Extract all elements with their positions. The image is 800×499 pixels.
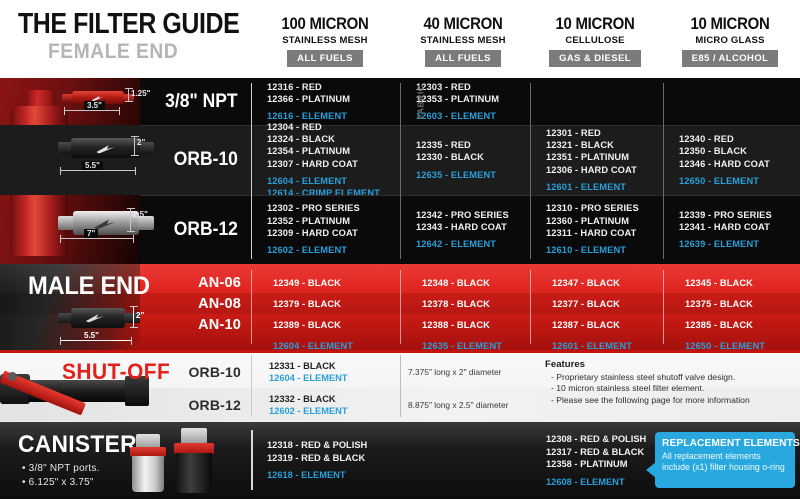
part-number: 12340 - RED xyxy=(679,133,800,145)
part-number: 12389 - BLACK xyxy=(273,320,341,330)
part-number: 12353 - PLATINUM xyxy=(416,93,530,105)
column-header-fuel-badge: ALL FUELS xyxy=(425,50,501,67)
part-number: 12331 - BLACK xyxy=(269,360,400,372)
callout-line-2: include (x1) filter housing o-ring xyxy=(662,462,788,473)
cell-c100-element: 12604 - ELEMENT xyxy=(251,335,400,350)
canister-bullet: • 3/8" NPT ports. xyxy=(22,463,100,474)
part-number: 12339 - PRO SERIES xyxy=(679,209,800,221)
length-dimension-label: 5.5" xyxy=(82,161,103,170)
row-label-orb-12: ORB-12 xyxy=(140,388,251,421)
canister-title: CANISTER xyxy=(18,431,137,459)
part-number: 12306 - HARD COAT xyxy=(546,164,663,176)
male-end-title: MALE END xyxy=(28,272,150,301)
column-divider-1 xyxy=(400,355,401,417)
part-number: 12302 - PRO SERIES xyxy=(267,202,400,214)
cell-c10c xyxy=(530,78,663,125)
cell-c10c: 12387 - BLACK xyxy=(530,314,663,335)
column-divider-1 xyxy=(400,83,401,259)
part-number: 12310 - PRO SERIES xyxy=(546,202,663,214)
diameter-dimension xyxy=(134,136,135,156)
diameter-dimension xyxy=(130,208,131,232)
cell-c40: 12378 - BLACK xyxy=(400,293,530,314)
length-dimension-label: 3.5" xyxy=(84,101,105,110)
column-divider-2 xyxy=(530,270,531,344)
part-number: 12335 - RED xyxy=(416,139,530,151)
fabric-tag: FABRIC xyxy=(415,84,425,119)
filter-product-image xyxy=(58,135,168,165)
cell-part: 12332 - BLACK12602 - ELEMENT xyxy=(251,388,400,421)
row-label-text: AN-10 xyxy=(198,317,241,333)
diameter-dimension xyxy=(128,88,129,102)
part-number: 12375 - BLACK xyxy=(685,299,753,309)
shut-off-title: SHUT-OFF xyxy=(62,359,170,385)
part-number: 12304 - RED xyxy=(267,121,400,133)
cell-c10g: 12339 - PRO SERIES12341 - HARD COAT12639… xyxy=(663,195,800,264)
female-end-table: 3/8" NPT12316 - RED12366 - PLATINUM12616… xyxy=(0,78,800,264)
cell-c100: 12389 - BLACK xyxy=(251,314,400,335)
diameter-dimension-label: 2" xyxy=(137,138,145,147)
part-number: 12618 - ELEMENT xyxy=(267,469,400,482)
part-number: 12351 - PLATINUM xyxy=(546,151,663,163)
cell-c10g xyxy=(663,78,800,125)
cell-c10c: 12347 - BLACK xyxy=(530,272,663,293)
column-header-fuel-badge: GAS & DIESEL xyxy=(549,50,641,67)
section-subtitle-female-end: FEMALE END xyxy=(48,40,178,64)
features-heading: Features xyxy=(545,359,750,370)
male-end-diameter-label: 2" xyxy=(136,311,144,320)
replacement-elements-callout: REPLACEMENT ELEMENTS All replacement ele… xyxy=(655,432,795,488)
cell-c40: 12388 - BLACK xyxy=(400,314,530,335)
part-number-element: 12604 - ELEMENT xyxy=(273,341,353,351)
callout-line-1: All replacement elements xyxy=(662,451,788,462)
part-number: 12347 - BLACK xyxy=(552,278,620,288)
cell-c10g-element: 12650 - ELEMENT xyxy=(663,335,800,350)
length-dimension xyxy=(60,238,134,239)
column-divider-1 xyxy=(400,270,401,344)
canister-image-black xyxy=(172,428,216,494)
column-divider-2 xyxy=(530,83,531,259)
part-number: 12377 - BLACK xyxy=(552,299,620,309)
cell-c10c-element: 12601 - ELEMENT xyxy=(530,335,663,350)
row-label-text: ORB-12 xyxy=(188,397,241,413)
canister-image-polish xyxy=(128,434,168,494)
part-number: 12602 - ELEMENT xyxy=(267,244,400,256)
column-divider-3 xyxy=(663,270,664,344)
cell-c10g: 12345 - BLACK xyxy=(663,272,800,293)
column-divider-3 xyxy=(663,83,664,259)
column-header-4: 10 MICRONMICRO GLASSE85 / ALCOHOL xyxy=(645,14,800,67)
part-number: 12324 - BLACK xyxy=(267,133,400,145)
feature-item: - Proprietary stainless steel shutoff va… xyxy=(545,372,750,383)
column-header-fuel-badge: ALL FUELS xyxy=(287,50,363,67)
part-number: 12603 - ELEMENT xyxy=(416,110,530,122)
row-label-text: ORB-12 xyxy=(174,219,238,241)
row-label-text: AN-08 xyxy=(198,296,241,312)
row-label-an-10: AN-10 xyxy=(140,314,251,335)
row-label-an-08: AN-08 xyxy=(140,293,251,314)
cell-c10c: 12308 - RED & POLISH12317 - RED & BLACK1… xyxy=(530,422,663,499)
male-end-length-dimension xyxy=(60,340,132,341)
part-number-element: 12602 - ELEMENT xyxy=(269,405,400,417)
cell-c40: 12342 - PRO SERIES12343 - HARD COAT12642… xyxy=(400,195,530,264)
dimensions-text: 7.375" long x 2" diameter xyxy=(408,367,501,377)
male-end-diameter-dimension xyxy=(133,306,134,328)
part-number: 12385 - BLACK xyxy=(685,320,753,330)
cell-c100: 12304 - RED12324 - BLACK12354 - PLATINUM… xyxy=(251,125,400,195)
part-number: 12319 - RED & BLACK xyxy=(267,452,400,465)
cell-c100: 12379 - BLACK xyxy=(251,293,400,314)
part-number: 12610 - ELEMENT xyxy=(546,244,663,256)
part-number: 12321 - BLACK xyxy=(546,139,663,151)
part-number: 12639 - ELEMENT xyxy=(679,238,800,250)
part-number: 12346 - HARD COAT xyxy=(679,158,800,170)
part-number: 12635 - ELEMENT xyxy=(416,169,530,181)
cell-c40: 12335 - RED12330 - BLACK12635 - ELEMENT xyxy=(400,125,530,195)
length-dimension-label: 7" xyxy=(84,229,98,238)
cell-c10g: 12385 - BLACK xyxy=(663,314,800,335)
part-number: 12350 - BLACK xyxy=(679,145,800,157)
part-number-element: 12650 - ELEMENT xyxy=(685,341,765,351)
part-number: 12387 - BLACK xyxy=(552,320,620,330)
filter-product-image xyxy=(62,88,172,111)
cell-c100: 12302 - PRO SERIES12352 - PLATINUM12309 … xyxy=(251,195,400,264)
diameter-dimension-label: 2.5" xyxy=(133,210,148,219)
cell-c100: 12316 - RED12366 - PLATINUM12616 - ELEME… xyxy=(251,78,400,125)
cell-part: 12331 - BLACK12604 - ELEMENT xyxy=(251,355,400,388)
part-number: 12642 - ELEMENT xyxy=(416,238,530,250)
length-dimension xyxy=(60,170,136,171)
feature-item: - Please see the following page for more… xyxy=(545,395,750,406)
column-divider-label xyxy=(251,355,252,417)
part-number: 12318 - RED & POLISH xyxy=(267,439,400,452)
column-header-media: MICRO GLASS xyxy=(645,35,800,46)
part-number: 12316 - RED xyxy=(267,81,400,93)
part-number: 12366 - PLATINUM xyxy=(267,93,400,105)
part-number: 12330 - BLACK xyxy=(416,151,530,163)
male-end-filter-image xyxy=(58,304,144,334)
part-number: 12345 - BLACK xyxy=(685,278,753,288)
part-number: 12332 - BLACK xyxy=(269,393,400,405)
part-number: 12343 - HARD COAT xyxy=(416,221,530,233)
part-number: 12342 - PRO SERIES xyxy=(416,209,530,221)
cell-c100: 12349 - BLACK xyxy=(251,272,400,293)
dimensions-text: 8.875" long x 2.5" diameter xyxy=(408,400,508,410)
part-number: 12379 - BLACK xyxy=(273,299,341,309)
features-block: Features - Proprietary stainless steel s… xyxy=(545,359,750,406)
part-number: 12601 - ELEMENT xyxy=(546,181,663,193)
page-title: THE FILTER GUIDE xyxy=(18,8,239,41)
part-number: 12311 - HARD COAT xyxy=(546,227,663,239)
filter-product-image xyxy=(58,208,168,242)
male-end-section: AN-0612349 - BLACK12348 - BLACK12347 - B… xyxy=(0,264,800,350)
aeromotive-logo-icon xyxy=(84,313,110,323)
row-label-text: ORB-10 xyxy=(188,364,241,380)
part-number: 12308 - RED & POLISH xyxy=(546,433,663,446)
callout-title: REPLACEMENT ELEMENTS xyxy=(662,438,788,449)
column-divider-label xyxy=(251,270,252,344)
cell-c10c: 12377 - BLACK xyxy=(530,293,663,314)
filter-guide-sheet: THE FILTER GUIDE FEMALE END 100 MICRONST… xyxy=(0,0,800,499)
column-header-micron: 10 MICRON xyxy=(655,14,800,34)
shut-off-section: ORB-1012331 - BLACK12604 - ELEMENT7.375"… xyxy=(0,350,800,422)
part-number-element: 12604 - ELEMENT xyxy=(269,372,400,384)
column-header-fuel-badge: E85 / ALCOHOL xyxy=(682,50,779,67)
part-number: 12360 - PLATINUM xyxy=(546,215,663,227)
cell-c100: 12318 - RED & POLISH12319 - RED & BLACK1… xyxy=(251,422,400,499)
part-number-element: 12635 - ELEMENT xyxy=(422,341,502,351)
part-number: 12301 - RED xyxy=(546,127,663,139)
cell-c40-element: 12635 - ELEMENT xyxy=(400,335,530,350)
part-number: 12348 - BLACK xyxy=(422,278,490,288)
cell-dimensions: 8.875" long x 2.5" diameter xyxy=(408,388,543,421)
part-number: 12354 - PLATINUM xyxy=(267,145,400,157)
header: THE FILTER GUIDE FEMALE END 100 MICRONST… xyxy=(0,0,800,78)
cell-c10c: 12301 - RED12321 - BLACK12351 - PLATINUM… xyxy=(530,125,663,195)
diameter-dimension-label: 1.25" xyxy=(131,89,150,98)
part-number: 12650 - ELEMENT xyxy=(679,175,800,187)
row-label-an-06: AN-06 xyxy=(140,272,251,293)
cell-c40: 12348 - BLACK xyxy=(400,272,530,293)
part-number: 12352 - PLATINUM xyxy=(267,215,400,227)
feature-item: - 10 micron stainless steel filter eleme… xyxy=(545,383,750,394)
part-number: 12341 - HARD COAT xyxy=(679,221,800,233)
cell-c10g: 12340 - RED12350 - BLACK12346 - HARD COA… xyxy=(663,125,800,195)
row-label-text: ORB-10 xyxy=(174,149,238,171)
row-label-text: 3/8" NPT xyxy=(165,91,237,113)
cell-c10c: 12310 - PRO SERIES12360 - PLATINUM12311 … xyxy=(530,195,663,264)
canister-bullet: • 6.125" x 3.75" xyxy=(22,477,94,488)
part-number: 12349 - BLACK xyxy=(273,278,341,288)
part-number: 12307 - HARD COAT xyxy=(267,158,400,170)
cell-dimensions: 7.375" long x 2" diameter xyxy=(408,355,543,388)
part-number-element: 12601 - ELEMENT xyxy=(552,341,632,351)
male-end-length-label: 5.5" xyxy=(84,331,99,340)
part-number: 12604 - ELEMENT xyxy=(267,175,400,187)
length-dimension xyxy=(64,110,120,111)
cell-c40: 12303 - RED12353 - PLATINUM12603 - ELEME… xyxy=(400,78,530,125)
part-number: 12303 - RED xyxy=(416,81,530,93)
part-number: 12309 - HARD COAT xyxy=(267,227,400,239)
row-label-text: AN-06 xyxy=(198,275,241,291)
part-number: 12317 - RED & BLACK xyxy=(546,446,663,459)
column-divider-label xyxy=(251,83,252,259)
part-number: 12378 - BLACK xyxy=(422,299,490,309)
part-number: 12388 - BLACK xyxy=(422,320,490,330)
cell-c10g: 12375 - BLACK xyxy=(663,293,800,314)
